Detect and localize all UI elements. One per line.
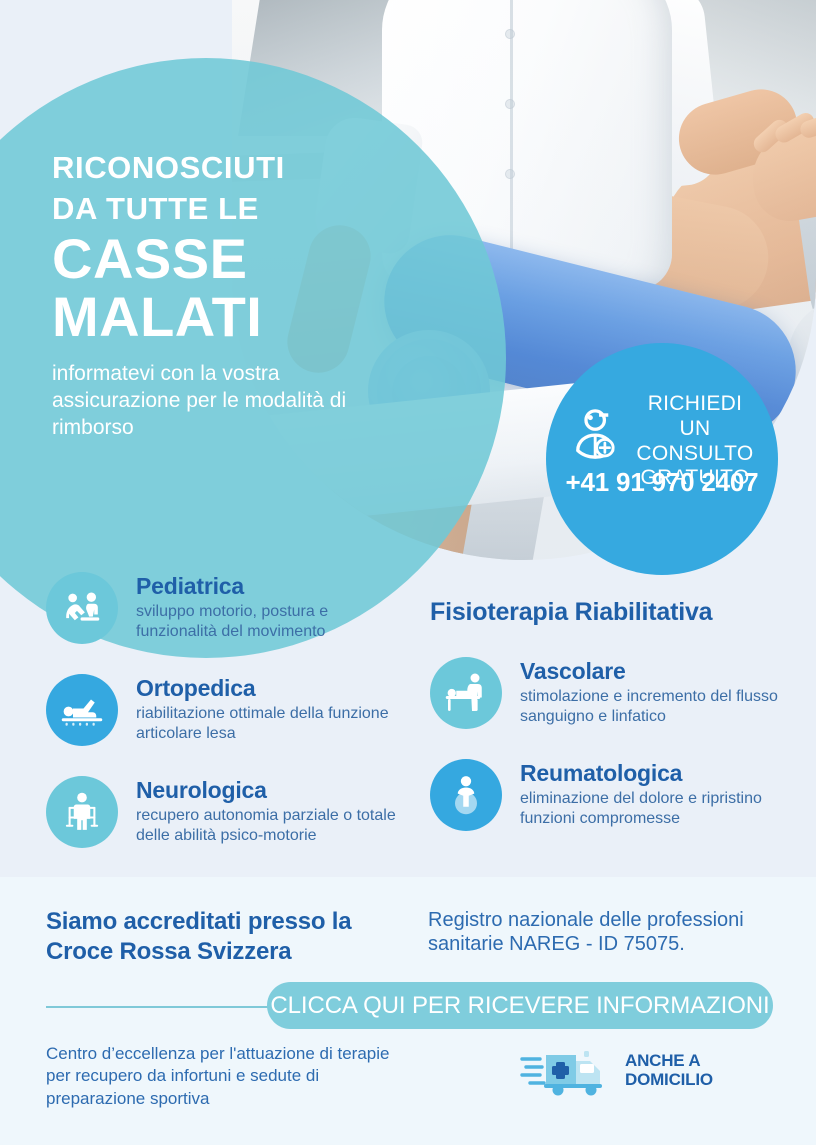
walker-icon	[46, 776, 118, 848]
consult-phone-number[interactable]: +41 91 970 2407	[564, 467, 760, 498]
hero-line-3: CASSE	[52, 231, 382, 287]
patient-lying-icon	[46, 674, 118, 746]
services-left-column: Pediatrica sviluppo motorio, postura e f…	[46, 570, 406, 876]
service-title: Neurologica	[136, 778, 406, 803]
services-right-column: Fisioterapia Riabilitativa Vascolare	[430, 598, 800, 859]
service-text: Ortopedica riabilitazione ottimale della…	[136, 672, 406, 745]
service-description: riabilitazione ottimale della funzione a…	[136, 704, 406, 744]
service-description: recupero autonomia parziale o totale del…	[136, 806, 406, 846]
service-item-vascolare[interactable]: Vascolare stimolazione e incremento del …	[430, 655, 800, 735]
ambulance-icon	[520, 1045, 620, 1097]
home-service-badge: ANCHE A DOMICILIO	[520, 1045, 760, 1101]
registry-text: Registro nazionale delle professioni san…	[428, 908, 798, 957]
cta-connector-line	[46, 1006, 291, 1008]
service-item-ortopedica[interactable]: Ortopedica riabilitazione ottimale della…	[46, 672, 406, 752]
consult-badge[interactable]: RICHIEDI UN CONSULTO GRATUITO +41 91 970…	[546, 343, 778, 575]
hero-line-1: RICONOSCIUTI	[52, 152, 382, 184]
service-item-neurologica[interactable]: Neurologica recupero autonomia parziale …	[46, 774, 406, 854]
footer-note: Centro d’eccellenza per l'attuazione di …	[46, 1043, 406, 1110]
service-description: stimolazione e incremento del flusso san…	[520, 687, 800, 727]
accreditation-title: Siamo accreditati presso la Croce Rossa …	[46, 907, 386, 967]
home-service-text: ANCHE A DOMICILIO	[625, 1051, 713, 1090]
home-service-line-1: ANCHE A	[625, 1051, 713, 1070]
service-text: Neurologica recupero autonomia parziale …	[136, 774, 406, 847]
home-service-line-2: DOMICILIO	[625, 1070, 713, 1089]
services-right-heading: Fisioterapia Riabilitativa	[430, 598, 800, 627]
hero-line-4: MALATI	[52, 289, 382, 345]
flyer-page: RICONOSCIUTI DA TUTTE LE CASSE MALATI in…	[0, 0, 816, 1145]
service-title: Vascolare	[520, 659, 800, 684]
hero-subtitle: informatevi con la vostra assicurazione …	[52, 361, 382, 442]
service-title: Ortopedica	[136, 676, 406, 701]
service-text: Reumatologica eliminazione del dolore e …	[520, 757, 800, 830]
exercise-ball-icon	[430, 759, 502, 831]
service-item-reumatologica[interactable]: Reumatologica eliminazione del dolore e …	[430, 757, 800, 837]
service-title: Reumatologica	[520, 761, 800, 786]
child-therapy-icon	[46, 572, 118, 644]
service-text: Pediatrica sviluppo motorio, postura e f…	[136, 570, 406, 643]
service-text: Vascolare stimolazione e incremento del …	[520, 655, 800, 728]
consult-line-2: UN CONSULTO	[620, 417, 770, 467]
service-description: eliminazione del dolore e ripristino fun…	[520, 789, 800, 829]
cta-button[interactable]: CLICCA QUI PER RICEVERE INFORMAZIONI	[267, 982, 773, 1029]
service-title: Pediatrica	[136, 574, 406, 599]
consult-line-1: RICHIEDI	[620, 392, 770, 417]
massage-table-icon	[430, 657, 502, 729]
service-item-pediatrica[interactable]: Pediatrica sviluppo motorio, postura e f…	[46, 570, 406, 650]
hero-line-2: DA TUTTE LE	[52, 193, 382, 225]
hero-text-block: RICONOSCIUTI DA TUTTE LE CASSE MALATI in…	[52, 152, 382, 442]
service-description: sviluppo motorio, postura e funzionalità…	[136, 602, 406, 642]
